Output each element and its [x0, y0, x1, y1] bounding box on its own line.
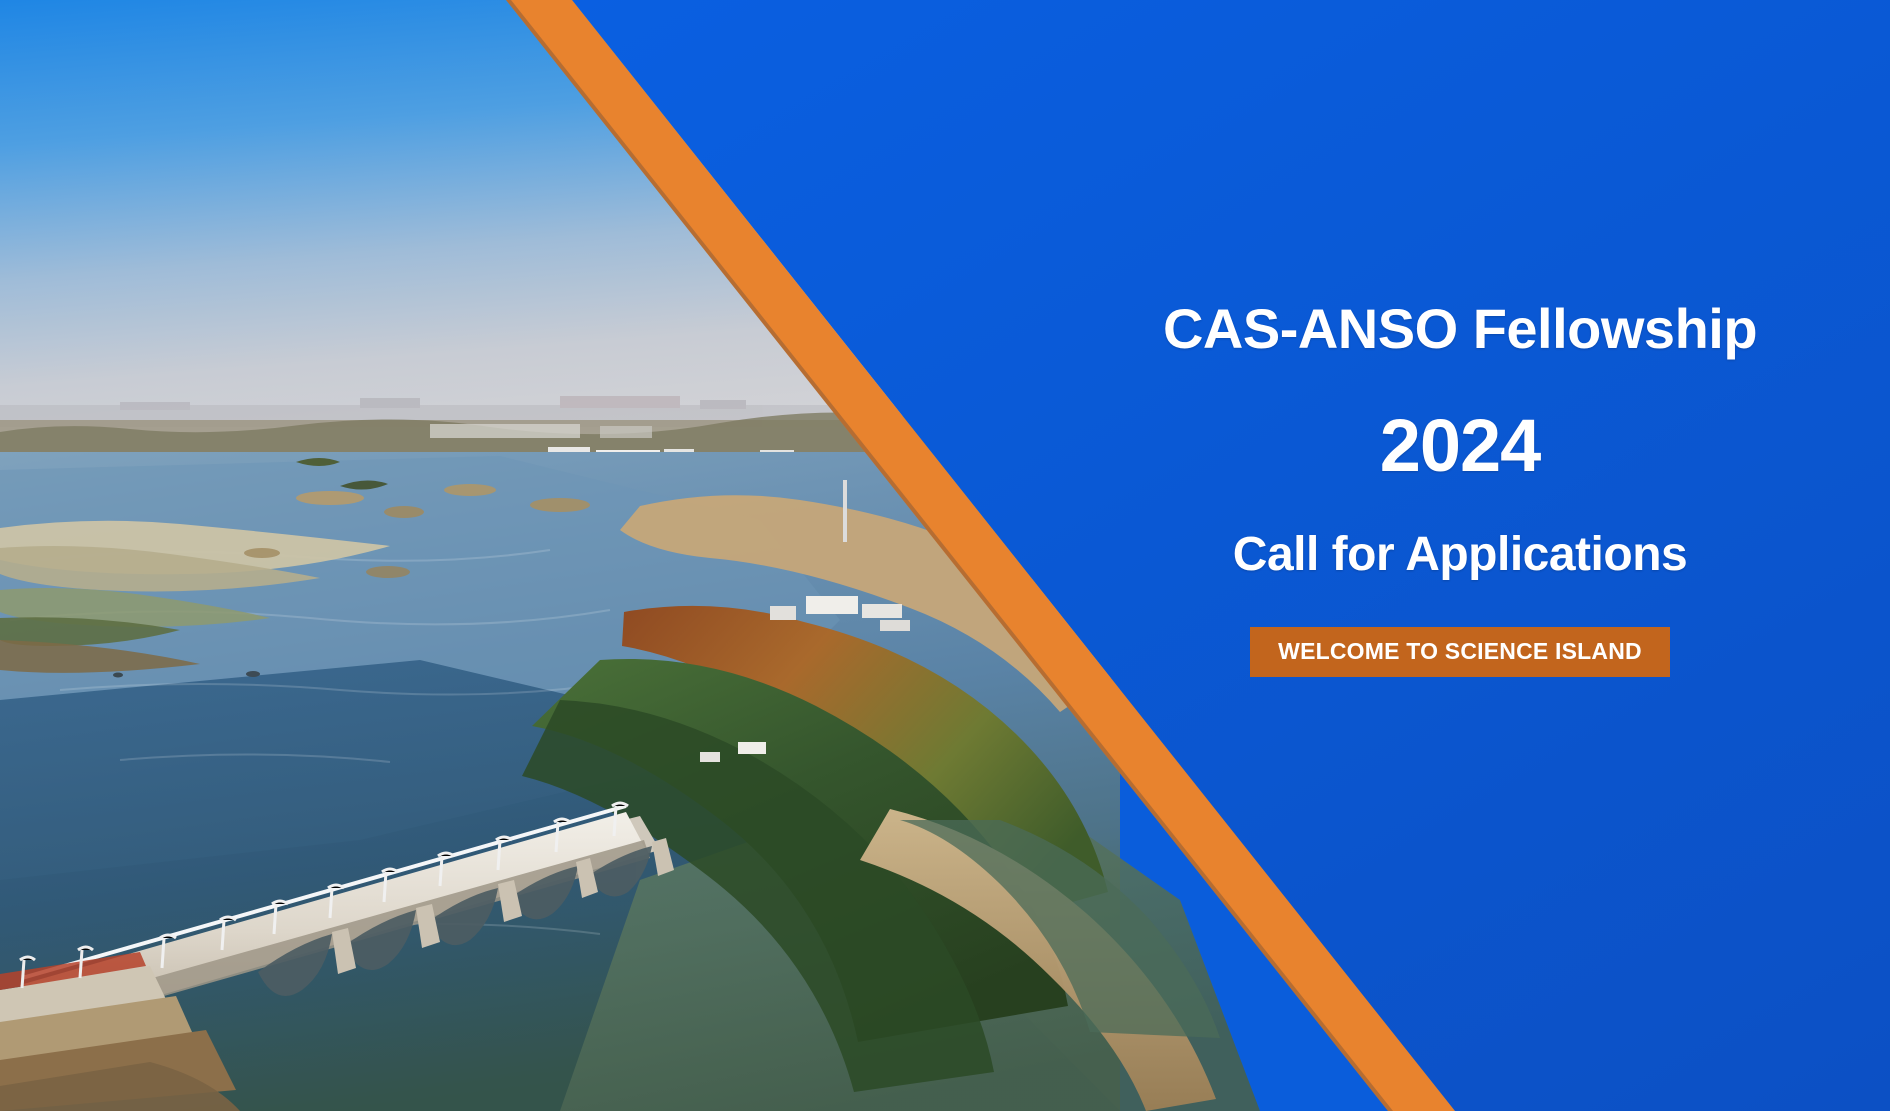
poster-text-block: CAS-ANSO Fellowship 2024 Call for Applic… [1090, 300, 1830, 677]
peninsula-building-b [862, 604, 902, 618]
welcome-badge-button[interactable]: WELCOME TO SCIENCE ISLAND [1250, 627, 1670, 677]
small-boat-2 [113, 673, 123, 678]
peninsula-building-d [880, 620, 910, 631]
small-boat [246, 671, 260, 677]
peninsula-building-f [700, 752, 720, 762]
peninsula-building-e [738, 742, 766, 754]
peninsula-building-c [770, 606, 796, 620]
poster-canvas: CAS-ANSO Fellowship 2024 Call for Applic… [0, 0, 1890, 1111]
page-title: CAS-ANSO Fellowship [1090, 300, 1830, 359]
subtitle: Call for Applications [1090, 531, 1830, 579]
badge-container: WELCOME TO SCIENCE ISLAND [1090, 627, 1830, 677]
radio-mast [843, 480, 847, 542]
peninsula-building-a [806, 596, 858, 614]
year-label: 2024 [1090, 409, 1830, 483]
